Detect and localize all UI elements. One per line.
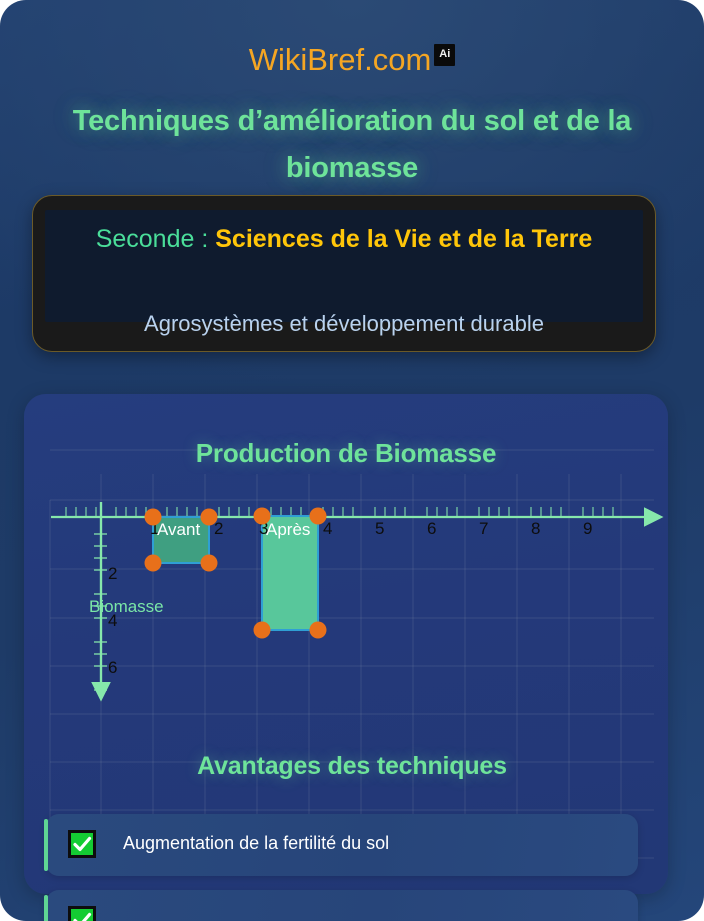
- brand-row: WikiBref.comAi: [0, 42, 704, 78]
- ai-badge-icon: Ai: [434, 44, 455, 66]
- subject-name: Sciences de la Vie et de la Terre: [215, 225, 592, 253]
- brand-name: WikiBref.com: [249, 42, 432, 77]
- chart-y-tick-labels: 2 4 6: [108, 564, 117, 677]
- y-tick-6: 6: [108, 658, 117, 677]
- y-tick-2: 2: [108, 564, 117, 583]
- x-tick-8: 8: [531, 519, 540, 538]
- chart-x-tick-labels: 1 2 3 4 5 6 7 8 9: [150, 519, 592, 538]
- handle-apres-tr: [310, 508, 327, 525]
- x-tick-6: 6: [427, 519, 436, 538]
- page-title: Techniques d’amélioration du sol et de l…: [30, 98, 674, 192]
- handle-apres-tl: [254, 508, 271, 525]
- subject-info-inner-panel: Seconde : Sciences de la Vie et de la Te…: [45, 210, 643, 322]
- subject-separator: :: [194, 225, 215, 253]
- subject-line: Seconde : Sciences de la Vie et de la Te…: [59, 222, 629, 258]
- check-icon: [68, 906, 96, 921]
- subject-subtitle: Agrosystèmes et développement durable: [45, 311, 643, 337]
- advantages-title: Avantages des techniques: [0, 752, 704, 781]
- chart-gridlines: [50, 450, 654, 864]
- poster-page: WikiBref.comAi Techniques d’amélioration…: [0, 0, 704, 921]
- subject-level: Seconde: [96, 225, 195, 253]
- check-icon: [68, 830, 96, 858]
- x-tick-4: 4: [323, 519, 332, 538]
- handle-avant-bl: [145, 555, 162, 572]
- subject-info-card: Seconde : Sciences de la Vie et de la Te…: [32, 195, 656, 352]
- x-tick-9: 9: [583, 519, 592, 538]
- advantage-item-1[interactable]: Augmentation de la fertilité du sol: [46, 814, 638, 876]
- x-tick-7: 7: [479, 519, 488, 538]
- handle-apres-br: [310, 622, 327, 639]
- handle-apres-bl: [254, 622, 271, 639]
- advantage-item-2[interactable]: [46, 890, 638, 921]
- x-tick-5: 5: [375, 519, 384, 538]
- handle-avant-br: [201, 555, 218, 572]
- advantage-label: Augmentation de la fertilité du sol: [123, 833, 389, 854]
- y-axis-label: Biomasse: [89, 597, 164, 616]
- bar-label-apres: Après: [266, 520, 310, 539]
- bar-label-avant: Avant: [157, 520, 200, 539]
- advantage-accent-bar: [44, 895, 48, 921]
- handle-avant-tr: [201, 509, 218, 526]
- advantage-accent-bar: [44, 819, 48, 871]
- handle-avant-tl: [145, 509, 162, 526]
